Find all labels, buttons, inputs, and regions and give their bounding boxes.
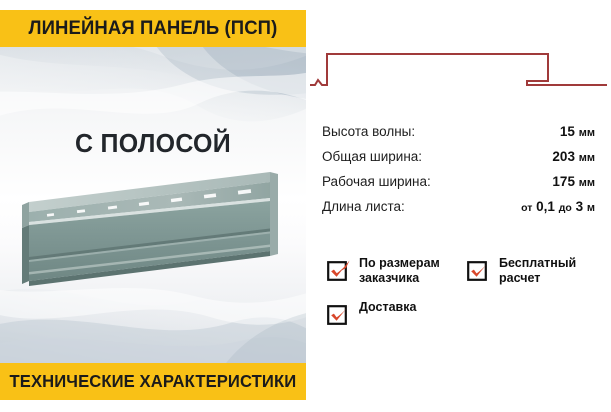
product-image <box>8 168 300 293</box>
left-column: ЛИНЕЙНАЯ ПАНЕЛЬ (ПСП) С ПОЛОСОЙ <box>0 0 306 412</box>
banner-top: ЛИНЕЙНАЯ ПАНЕЛЬ (ПСП) <box>0 10 306 47</box>
banner-top-label: ЛИНЕЙНАЯ ПАНЕЛЬ (ПСП) <box>29 17 278 40</box>
spec-value: 15 мм <box>560 124 611 139</box>
banner-bottom-left-label: ТЕХНИЧЕСКИЕ ХАРАКТЕРИСТИКИ <box>10 371 297 392</box>
spec-label: Общая ширина: <box>322 149 422 164</box>
feature-label: Бесплатныйрасчет <box>499 255 576 287</box>
feature-item-custom-sizes: По размерамзаказчика <box>326 255 466 287</box>
spec-label: Рабочая ширина: <box>322 174 431 189</box>
features-row-2: Доставка <box>326 299 611 327</box>
spec-row: Общая ширина: 203 мм <box>322 149 611 174</box>
checkbox-checked-icon <box>326 257 352 283</box>
infographic-root: ЛИНЕЙНАЯ ПАНЕЛЬ (ПСП) С ПОЛОСОЙ <box>0 0 611 412</box>
spec-value: 203 мм <box>552 149 611 164</box>
feature-label: Доставка <box>359 299 416 315</box>
feature-label: По размерамзаказчика <box>359 255 440 287</box>
spec-row: Рабочая ширина: 175 мм <box>322 174 611 199</box>
banner-bottom-left: ТЕХНИЧЕСКИЕ ХАРАКТЕРИСТИКИ <box>0 363 306 400</box>
spec-value: 175 мм <box>552 174 611 189</box>
spec-value: от 0,1 до 3 м <box>521 199 611 214</box>
spec-row: Длина листа: от 0,1 до 3 м <box>322 199 611 224</box>
profile-diagram <box>306 33 611 95</box>
right-column: Высота волны: 15 мм Общая ширина: 203 мм… <box>306 0 611 412</box>
feature-item-free-estimate: Бесплатныйрасчет <box>466 255 611 287</box>
features-list: По размерамзаказчика Бесплатныйрасчет <box>326 255 611 327</box>
spec-row: Высота волны: 15 мм <box>322 124 611 149</box>
spec-label: Длина листа: <box>322 199 405 214</box>
features-row-1: По размерамзаказчика Бесплатныйрасчет <box>326 255 611 287</box>
checkbox-checked-icon <box>326 301 352 327</box>
linear-panel-illustration <box>8 168 300 293</box>
cross-section-profile-icon <box>306 33 611 95</box>
spec-label: Высота волны: <box>322 124 415 139</box>
checkbox-checked-icon <box>466 257 492 283</box>
specifications-list: Высота волны: 15 мм Общая ширина: 203 мм… <box>322 124 611 224</box>
product-subtitle: С ПОЛОСОЙ <box>6 128 300 159</box>
feature-item-delivery: Доставка <box>326 299 466 327</box>
